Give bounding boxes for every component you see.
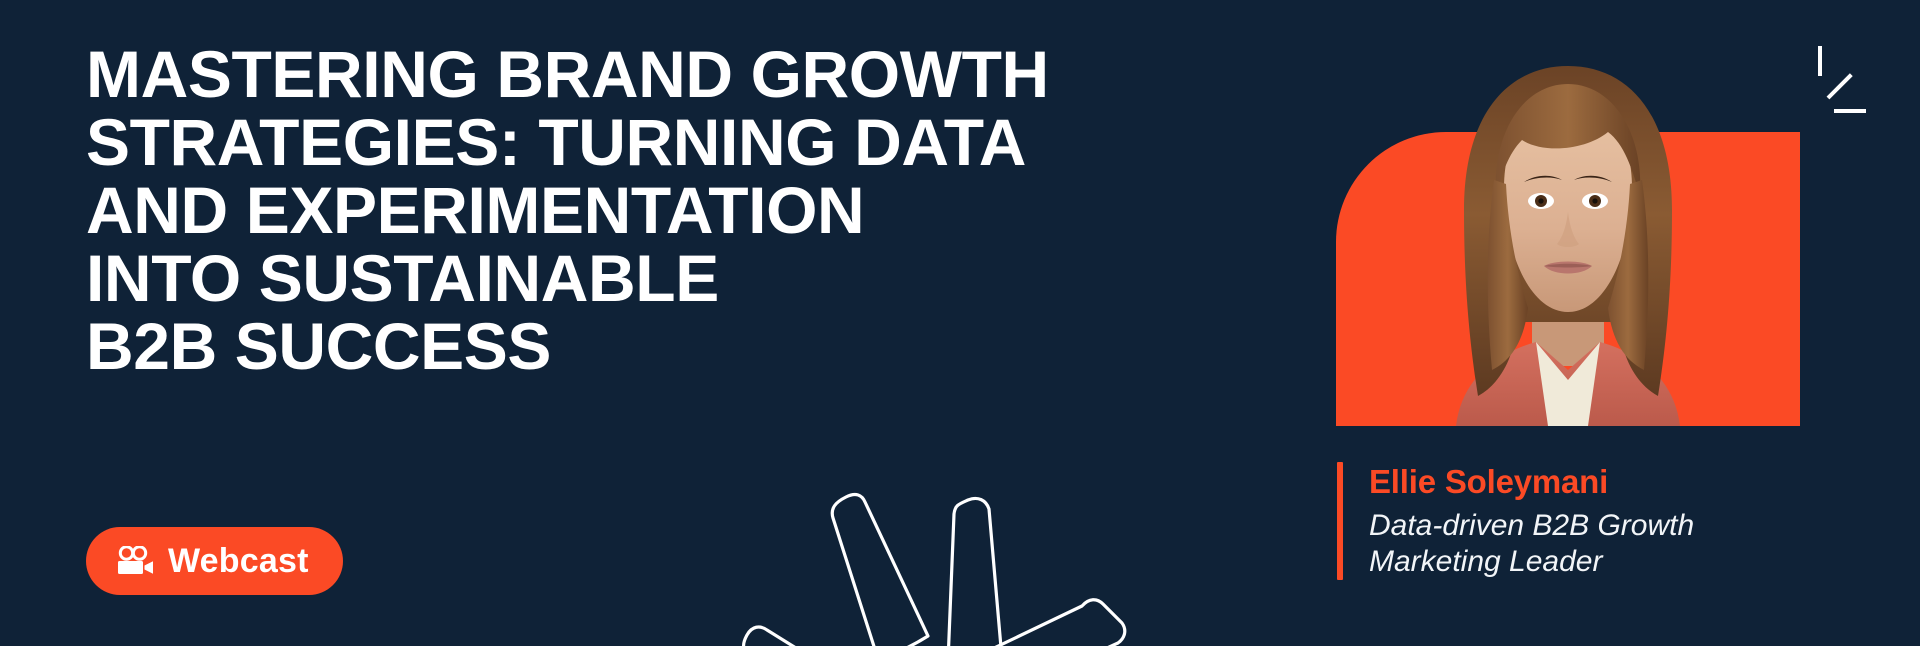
slash-accent-marks-icon — [1800, 38, 1910, 148]
webcast-banner: MASTERING BRAND GROWTH STRATEGIES: TURNI… — [0, 0, 1920, 646]
speaker-info: Ellie Soleymani Data-driven B2B Growth M… — [1337, 462, 1694, 580]
speaker-headshot — [1336, 40, 1800, 426]
headline-block: MASTERING BRAND GROWTH STRATEGIES: TURNI… — [86, 40, 1096, 380]
page-title: MASTERING BRAND GROWTH STRATEGIES: TURNI… — [86, 40, 1096, 380]
speaker-name: Ellie Soleymani — [1369, 462, 1694, 502]
webcast-badge[interactable]: Webcast — [86, 527, 343, 595]
flower-outline-icon — [690, 440, 1190, 646]
speaker-role: Data-driven B2B Growth Marketing Leader — [1369, 508, 1694, 580]
speaker-accent-rule — [1337, 462, 1343, 580]
webcast-badge-label: Webcast — [168, 544, 309, 578]
speaker-text-block: Ellie Soleymani Data-driven B2B Growth M… — [1369, 462, 1694, 580]
speaker-portrait — [1336, 40, 1800, 426]
video-camera-icon — [116, 546, 154, 576]
